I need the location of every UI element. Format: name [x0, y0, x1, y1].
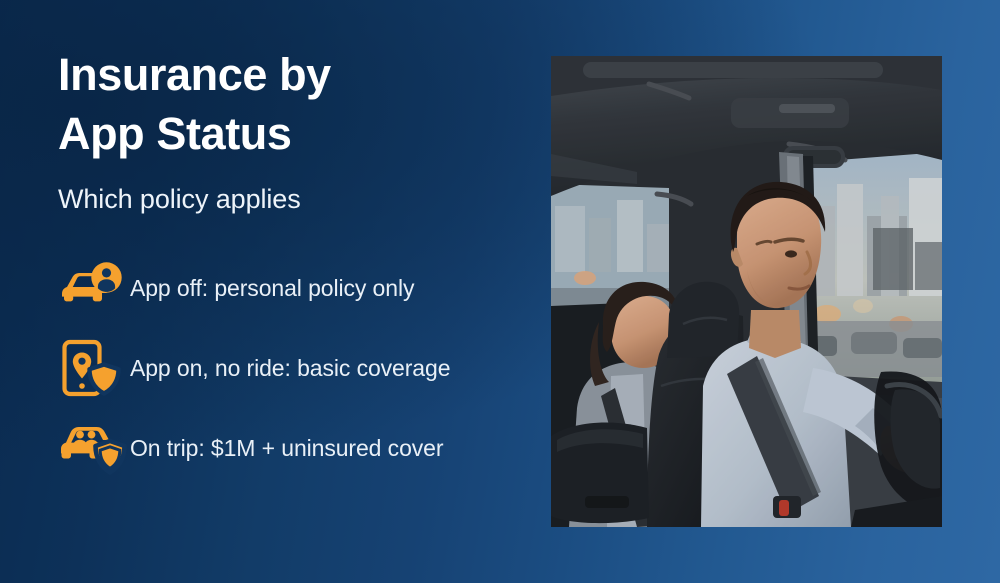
list-item-label: App on, no ride: basic coverage: [130, 355, 450, 382]
page-subtitle: Which policy applies: [58, 184, 528, 215]
page-title: Insurance by App Status: [58, 46, 528, 163]
rideshare-driver-photo: [551, 56, 942, 527]
text-column: Insurance by App Status Which policy app…: [58, 46, 528, 215]
bullet-list: App off: personal policy only App: [58, 248, 528, 488]
slide-root: Insurance by App Status Which policy app…: [0, 0, 1000, 583]
list-item: On trip: $1M + uninsured cover: [58, 408, 528, 488]
car-person-icon: [58, 257, 130, 319]
phone-pin-shield-icon: [58, 337, 130, 399]
list-item-label: App off: personal policy only: [130, 275, 414, 302]
list-item-label: On trip: $1M + uninsured cover: [130, 435, 443, 462]
car-passengers-shield-icon: [58, 417, 130, 479]
list-item: App on, no ride: basic coverage: [58, 328, 528, 408]
list-item: App off: personal policy only: [58, 248, 528, 328]
